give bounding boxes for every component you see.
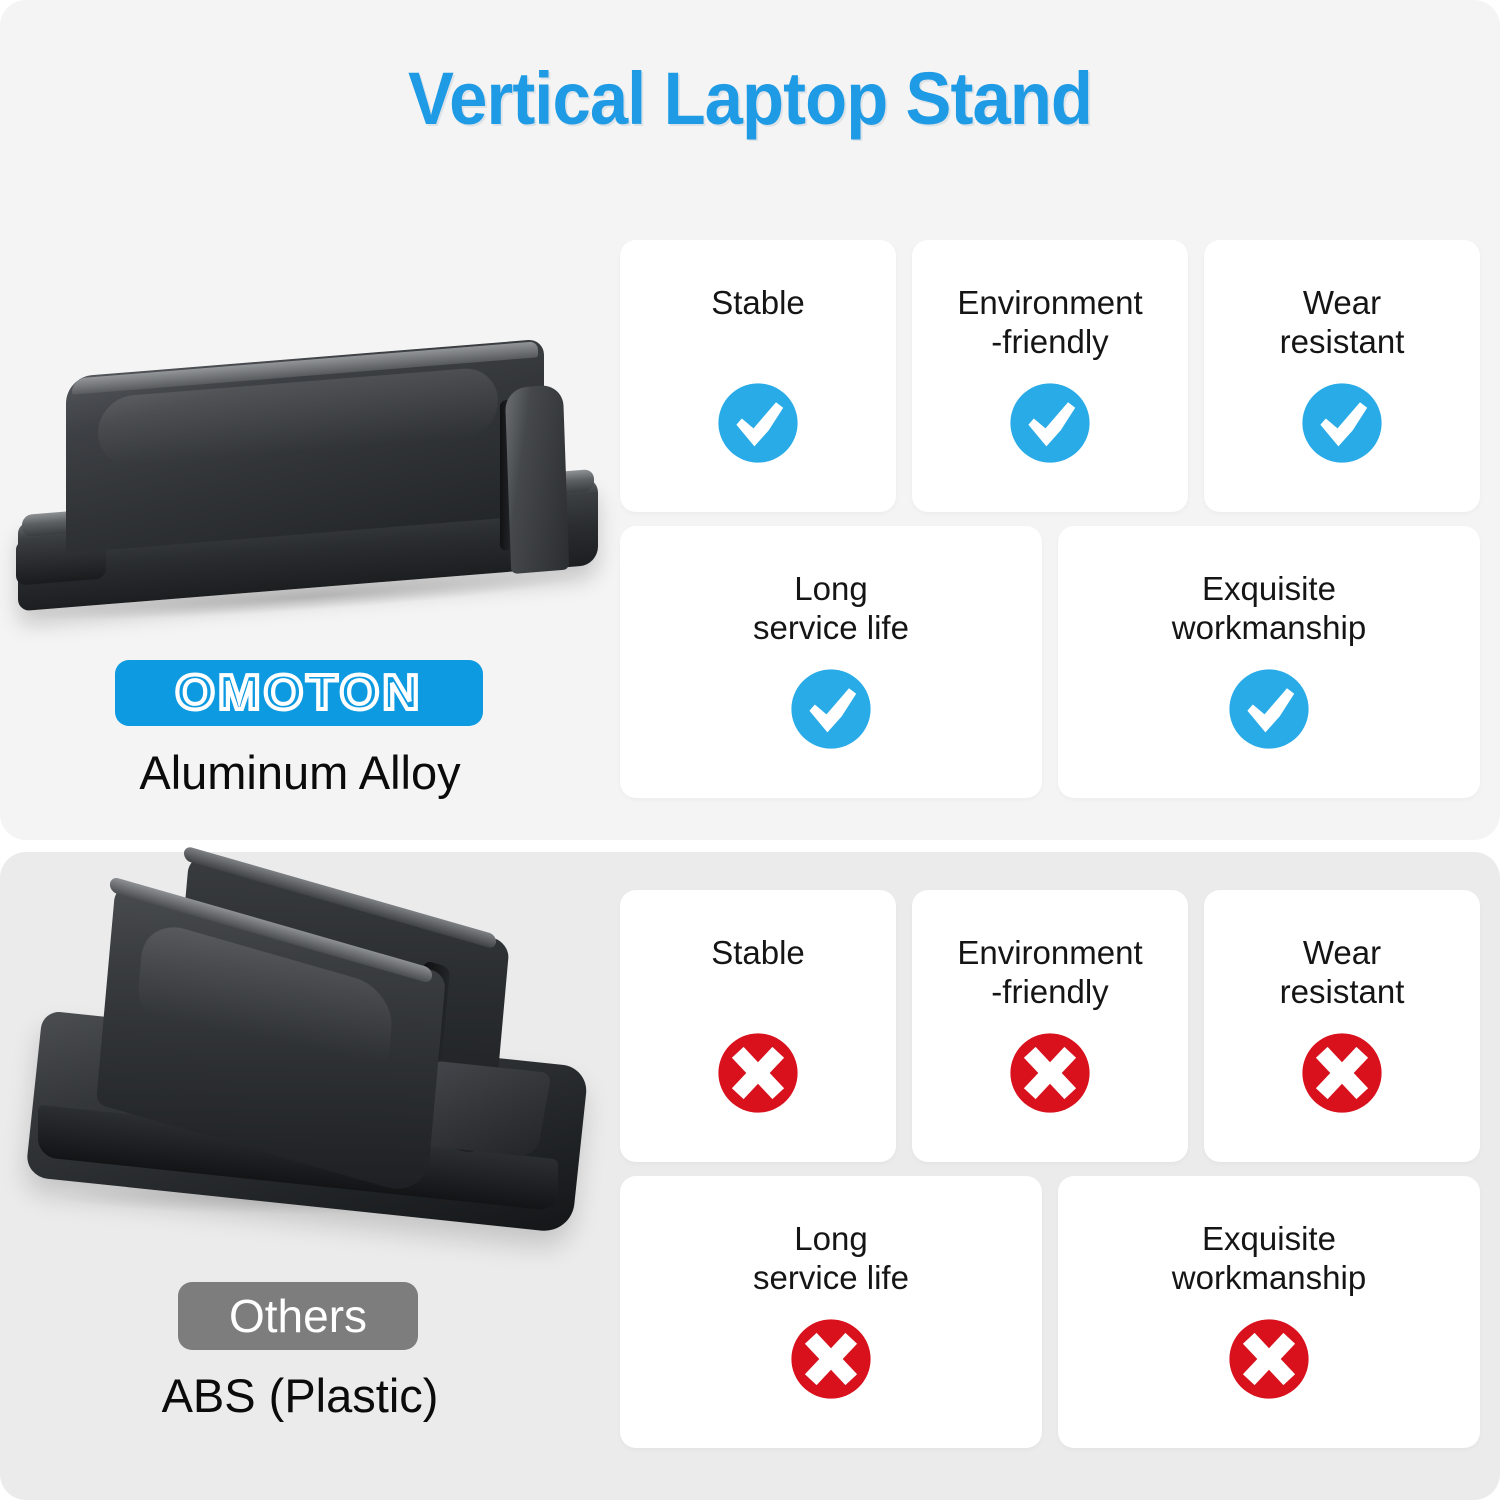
feature-card-label: Environment -friendly [957,284,1142,362]
feature-card-wear-resistant[interactable]: Wear resistant [1204,890,1480,1162]
cross-circle-icon [713,1028,803,1118]
material-label-aluminum: Aluminum Alloy [0,745,600,800]
check-circle-icon [1224,664,1314,754]
feature-card-label: Exquisite workmanship [1172,1220,1366,1298]
feature-card-label: Exquisite workmanship [1172,570,1366,648]
feature-card-row: Stable Environment -friendly Wear resist… [620,890,1480,1162]
feature-card-long-service-life[interactable]: Long service life [620,526,1042,798]
feature-card-long-service-life[interactable]: Long service life [620,1176,1042,1448]
feature-cards-omoton: Stable Environment -friendly Wear resist… [620,240,1480,810]
feature-card-label: Environment -friendly [957,934,1142,1012]
page-title: Vertical Laptop Stand [53,56,1448,141]
feature-card-environment-friendly[interactable]: Environment -friendly [912,240,1188,512]
feature-card-environment-friendly[interactable]: Environment -friendly [912,890,1188,1162]
product-image-aluminum-stand [0,170,600,500]
cross-circle-icon [1297,1028,1387,1118]
feature-card-exquisite-workmanship[interactable]: Exquisite workmanship [1058,526,1480,798]
brand-badge-omoton: OMOTON [115,660,483,726]
brand-badge-others: Others [178,1282,418,1350]
feature-card-label: Stable [711,284,805,323]
feature-card-stable[interactable]: Stable [620,240,896,512]
brand-badge-label: OMOTON [175,669,422,718]
feature-card-label: Wear resistant [1280,284,1405,362]
check-circle-icon [1297,378,1387,468]
feature-card-row: Stable Environment -friendly Wear resist… [620,240,1480,512]
feature-card-wear-resistant[interactable]: Wear resistant [1204,240,1480,512]
feature-card-label: Stable [711,934,805,973]
feature-card-label: Wear resistant [1280,934,1405,1012]
feature-card-row: Long service life Exquisite workmanship [620,1176,1480,1448]
feature-card-label: Long service life [753,1220,909,1298]
brand-badge-label: Others [229,1293,367,1339]
feature-card-row: Long service life Exquisite workmanship [620,526,1480,798]
feature-card-label: Long service life [753,570,909,648]
check-circle-icon [713,378,803,468]
product-image-plastic-stand [0,870,600,1200]
material-label-abs: ABS (Plastic) [0,1368,600,1423]
feature-card-exquisite-workmanship[interactable]: Exquisite workmanship [1058,1176,1480,1448]
feature-card-stable[interactable]: Stable [620,890,896,1162]
check-circle-icon [1005,378,1095,468]
cross-circle-icon [1005,1028,1095,1118]
cross-circle-icon [1224,1314,1314,1404]
product-column-omoton [0,170,600,830]
cross-circle-icon [786,1314,876,1404]
feature-cards-others: Stable Environment -friendly Wear resist… [620,890,1480,1470]
check-circle-icon [786,664,876,754]
